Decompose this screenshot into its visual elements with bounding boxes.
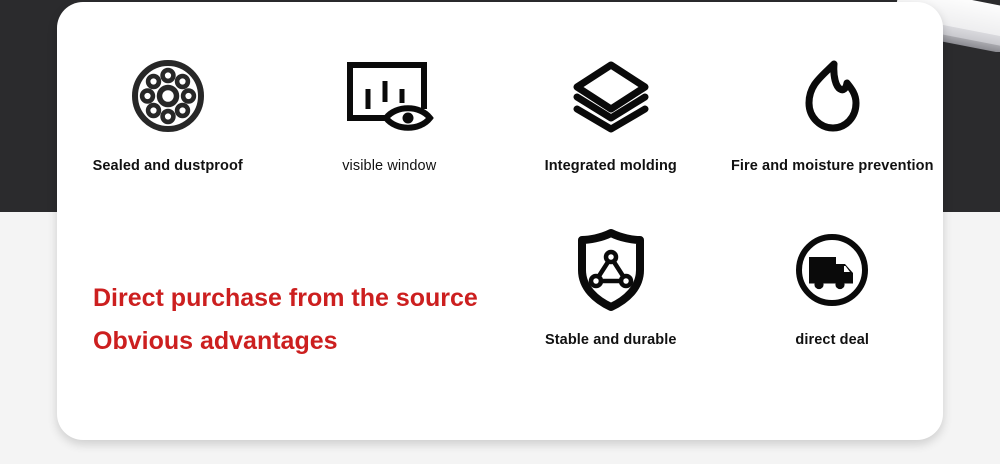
flame-icon [801,50,863,142]
visible-window-icon [341,50,437,142]
feature-label: Sealed and dustproof [93,158,243,174]
headline: Direct purchase from the source Obvious … [93,277,478,363]
feature-item-direct-deal: direct deal [722,224,944,348]
headline-line-1: Direct purchase from the source [93,277,478,320]
feature-label: Stable and durable [545,332,677,348]
shield-network-icon [574,224,648,316]
feature-item-sealed-and-dustproof: Sealed and dustproof [57,50,279,174]
feature-card: Sealed and dustproof visible window [57,2,943,440]
feature-label: visible window [342,158,436,174]
headline-line-2: Obvious advantages [93,320,478,363]
dustproof-seal-icon [129,50,207,142]
feature-item-visible-window: visible window [279,50,501,174]
feature-row-1: Sealed and dustproof visible window [57,50,943,174]
promo-banner: Sealed and dustproof visible window [0,0,1000,464]
feature-item-integrated-molding: Integrated molding [500,50,722,174]
feature-label: Integrated molding [545,158,677,174]
feature-item-fire-and-moisture-prevention: Fire and moisture prevention [722,50,944,174]
feature-item-stable-and-durable: Stable and durable [500,224,722,348]
feature-label: Fire and moisture prevention [731,158,934,174]
layers-icon [569,50,653,142]
feature-label: direct deal [795,332,869,348]
delivery-truck-circle-icon [792,224,872,316]
